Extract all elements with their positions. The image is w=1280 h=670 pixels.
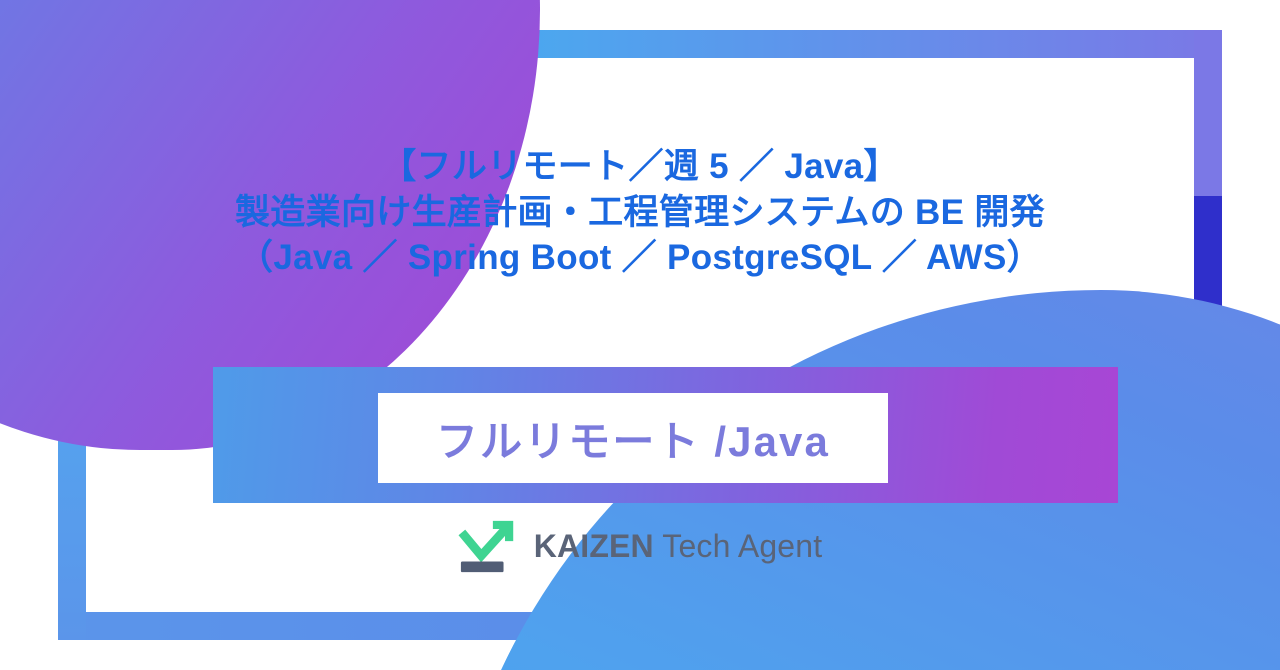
- frame-segment-top: [520, 30, 1222, 58]
- title-line-conditions: 【フルリモート／週 5 ／ Java】: [235, 144, 1045, 190]
- tag-badge: フルリモート /Java: [378, 393, 888, 483]
- logo-wordmark: KAIZEN Tech Agent: [534, 528, 823, 565]
- tag-banner-bar: フルリモート /Java: [213, 367, 1118, 503]
- title-line-role: 製造業向け生産計画・工程管理システムの BE 開発: [235, 190, 1045, 236]
- status-badge: フルリモート /Java: [436, 408, 830, 469]
- title-line-techstack: （Java ／ Spring Boot ／ PostgreSQL ／ AWS）: [235, 235, 1045, 281]
- growth-arrow-icon: [458, 515, 520, 577]
- logo-brand-suffix: Tech Agent: [654, 528, 822, 564]
- promotional-banner: 【フルリモート／週 5 ／ Java】 製造業向け生産計画・工程管理システムの …: [0, 0, 1280, 670]
- frame-segment-right: [1194, 30, 1222, 210]
- logo-brand-name: KAIZEN: [534, 528, 654, 564]
- brand-logo: KAIZEN Tech Agent: [0, 515, 1280, 577]
- page-title: 【フルリモート／週 5 ／ Java】 製造業向け生産計画・工程管理システムの …: [235, 144, 1045, 281]
